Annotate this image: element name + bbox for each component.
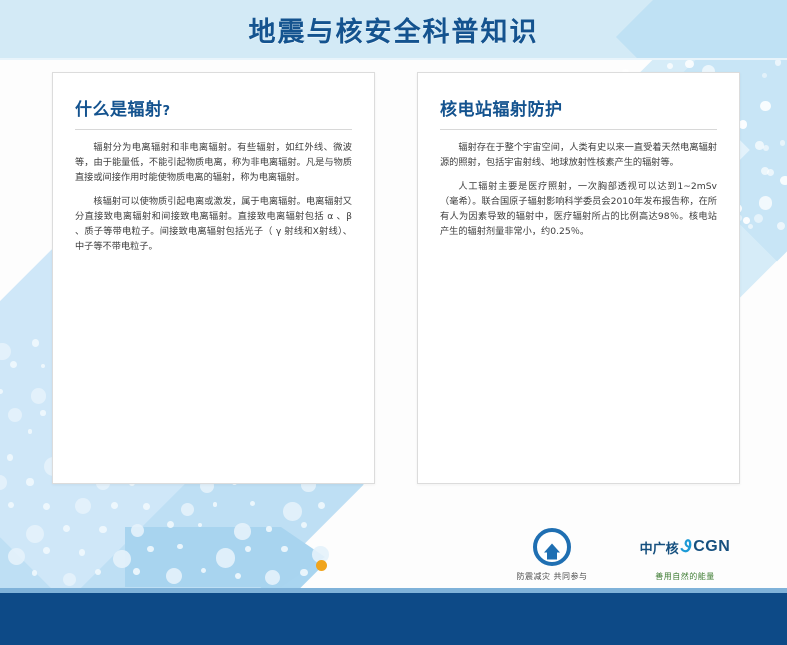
left-card-body: 辐射分为电离辐射和非电离辐射。有些辐射，如红外线、微波等，由于能量低，不能引起物… <box>75 140 352 254</box>
decorative-bubble <box>0 475 7 490</box>
header-divider <box>0 58 787 60</box>
right-card-title: 核电站辐射防护 <box>440 95 717 120</box>
right-card-paragraph-2: 人工辐射主要是医疗照射，一次胸部透视可以达到1~2mSv（毫希）。联合国原子辐射… <box>440 179 717 239</box>
decorative-bubble <box>250 501 255 506</box>
disaster-prevention-icon <box>533 528 571 566</box>
decorative-bubble <box>0 343 11 360</box>
decorative-bubble <box>213 502 218 507</box>
cgn-caption: 善用自然的能量 <box>620 571 750 582</box>
decorative-dot <box>780 140 786 146</box>
decorative-bubble <box>8 408 22 422</box>
footer-strip <box>0 593 787 645</box>
decorative-bubble <box>111 502 118 509</box>
logo-row: 防震减灾 共同参与 中广核 Ꮽ CGN 善用自然的能量 <box>0 528 787 590</box>
decorative-dot <box>763 145 769 151</box>
decorative-bubble <box>8 502 14 508</box>
cgn-english-name: CGN <box>693 538 730 556</box>
page-title: 地震与核安全科普知识 <box>0 0 787 58</box>
decorative-bubble <box>41 364 45 368</box>
decorative-bubble <box>10 361 17 368</box>
decorative-dot <box>748 224 753 229</box>
decorative-bubble <box>7 454 13 460</box>
cgn-icon: 中广核 Ꮽ CGN <box>620 528 750 566</box>
left-card-paragraph-2: 核辐射可以使物质引起电离或激发，属于电离辐射。电离辐射又分直接致电离辐射和间接致… <box>75 194 352 254</box>
left-card-title-rule <box>75 129 352 130</box>
decorative-dot <box>685 60 694 69</box>
decorative-dot <box>755 141 763 149</box>
decorative-dot <box>759 196 772 209</box>
decorative-bubble <box>32 339 40 347</box>
decorative-dot <box>754 214 763 223</box>
decorative-dot <box>767 169 774 176</box>
right-card-body: 辐射存在于整个宇宙空间，人类有史以来一直受着天然电离辐射源的照射，包括宇宙射线、… <box>440 140 717 239</box>
decorative-bubble <box>181 503 194 516</box>
poster-root: 地震与核安全科普知识 什么是辐射? 辐射分为电离辐射和非电离辐射。有些辐射，如红… <box>0 0 787 645</box>
logo-cgn: 中广核 Ꮽ CGN 善用自然的能量 <box>620 528 750 582</box>
left-card-title-qmark: ? <box>163 104 171 119</box>
decorative-bubble <box>0 389 3 394</box>
disaster-prevention-caption: 防震减灾 共同参与 <box>492 571 612 582</box>
decorative-bubble <box>198 523 202 527</box>
decorative-dot <box>743 217 750 224</box>
left-card-title-text: 什么是辐射 <box>75 100 163 120</box>
decorative-dot <box>761 167 770 176</box>
decorative-bubble <box>28 429 33 434</box>
header-bar: 地震与核安全科普知识 <box>0 0 787 58</box>
cgn-chinese-name: 中广核 <box>640 538 679 557</box>
decorative-bubble <box>43 503 50 510</box>
decorative-bubble <box>40 410 45 415</box>
card-what-is-radiation: 什么是辐射? 辐射分为电离辐射和非电离辐射。有些辐射，如红外线、微波等，由于能量… <box>52 72 375 484</box>
right-card-title-rule <box>440 129 717 130</box>
card-npp-radiation-protection: 核电站辐射防护 辐射存在于整个宇宙空间，人类有史以来一直受着天然电离辐射源的照射… <box>417 72 740 484</box>
decorative-bubble <box>26 478 33 485</box>
logo-disaster-prevention: 防震减灾 共同参与 <box>492 528 612 582</box>
decorative-bubble <box>31 388 46 403</box>
decorative-dot <box>780 176 787 185</box>
decorative-dot <box>667 63 673 69</box>
decorative-bubble <box>75 498 91 514</box>
decorative-dot <box>760 101 771 112</box>
decorative-bubble <box>283 502 302 521</box>
right-card-paragraph-1: 辐射存在于整个宇宙空间，人类有史以来一直受着天然电离辐射源的照射，包括宇宙射线、… <box>440 140 717 170</box>
decorative-dot <box>775 59 782 66</box>
decorative-dot <box>739 120 748 129</box>
left-card-paragraph-1: 辐射分为电离辐射和非电离辐射。有些辐射，如红外线、微波等，由于能量低，不能引起物… <box>75 140 352 185</box>
left-card-title: 什么是辐射? <box>75 95 352 120</box>
house-icon <box>544 543 560 552</box>
cgn-swirl-icon: Ꮽ <box>681 537 692 557</box>
decorative-bubble <box>318 502 325 509</box>
decorative-bubble <box>143 503 150 510</box>
decorative-dot <box>777 222 786 231</box>
decorative-dot <box>762 73 767 78</box>
